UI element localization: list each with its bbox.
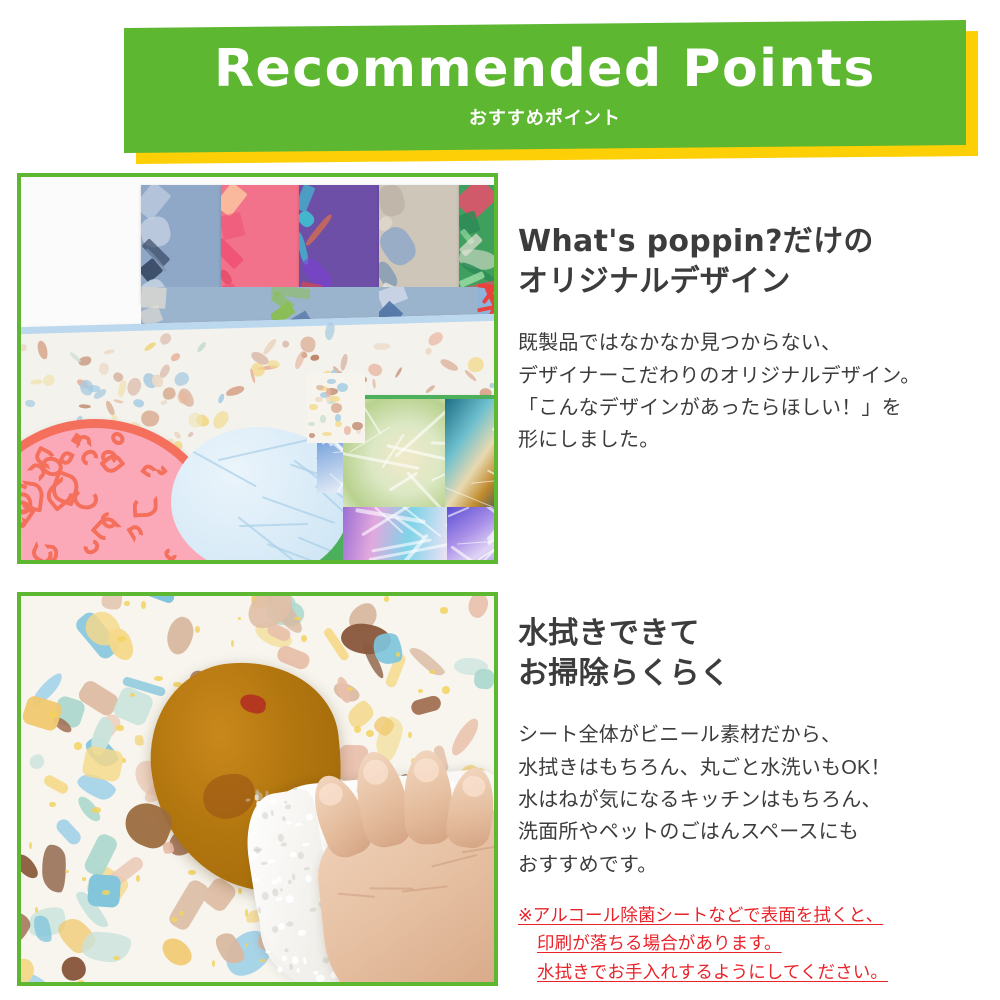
design-sheet-white-terrazzo [307,373,365,443]
terrazzo-speckle [179,911,184,916]
body-line: デザイナーこだわりのオリジナルデザイン。 [518,360,986,392]
terrazzo-speckle [418,689,422,693]
terrazzo-speckle [49,711,57,718]
terrazzo-speckle [408,732,411,738]
section-1-title-line1: What's poppin?だけの [518,222,986,262]
note-line: ※アルコール除菌シートなどで表面を拭くと、 [518,905,883,925]
terrazzo-speckle [124,601,130,607]
body-line: おすすめです。 [518,849,986,881]
page-subtitle: おすすめポイント [214,104,876,130]
terrazzo-speckle [77,980,85,982]
body-line: 既製品ではなかなか見つからない、 [518,327,986,359]
photo-easy-clean-canvas [21,596,494,982]
section-1-text-column: What's poppin?だけの オリジナルデザイン 既製品ではなかなか見つか… [518,173,986,457]
page-title: Recommended Points [214,43,876,95]
terrazzo-speckle [231,640,234,647]
header-banner: Recommended Points おすすめポイント [0,0,1000,172]
terrazzo-speckle [396,652,400,657]
section-2-title-line1: 水拭きできて [518,614,986,654]
photo-original-design-canvas [21,177,494,560]
body-line: 水はねが気になるキッチンはもちろん、 [518,784,986,816]
section-2-title: 水拭きできて お掃除らくらく [518,614,986,693]
design-sheet-marble [445,399,494,511]
section-1-title: What's poppin?だけの オリジナルデザイン [518,222,986,301]
terrazzo-speckle [354,726,361,733]
design-sheet-graffiti [141,185,221,303]
terrazzo-speckle [366,730,374,737]
terrazzo-speckle [49,802,55,808]
section-1-title-line2: オリジナルデザイン [518,262,986,302]
photo-original-design [17,173,498,564]
terrazzo-speckle [171,917,177,921]
note-line: 水拭きでお手入れするようにしてください。 [518,958,888,986]
terrazzo-speckle [301,635,307,642]
body-line: シート全体がビニール素材だから、 [518,719,986,751]
design-sheet-marble [447,507,494,560]
section-easy-clean: 水拭きできて お掃除らくらく シート全体がビニール素材だから、 水拭きはもちろん… [0,592,1000,992]
design-sheet-graffiti [221,185,299,303]
terrazzo-chip [82,931,131,962]
terrazzo-speckle [294,617,302,620]
section-2-title-line2: お掃除らくらく [518,654,986,694]
terrazzo-speckle [154,676,163,681]
photo-easy-clean [17,592,498,986]
design-sheet-marble [343,507,447,560]
terrazzo-speckle [384,596,389,601]
terrazzo-speckle [74,742,83,749]
banner-green-plate: Recommended Points おすすめポイント [124,20,966,153]
terrazzo-speckle [212,960,215,967]
terrazzo-speckle [141,601,146,609]
section-1-body: 既製品ではなかなか見つからない、 デザイナーこだわりのオリジナルデザイン。 「こ… [518,327,986,457]
body-line: 洗面所やペットのごはんスペースにも [518,816,986,848]
section-2-caution-note: ※アルコール除菌シートなどで表面を拭くと、 印刷が落ちる場合があります。 水拭き… [518,901,986,986]
design-sheet-graffiti [379,185,459,303]
section-2-text-column: 水拭きできて お掃除らくらく シート全体がビニール素材だから、 水拭きはもちろん… [518,592,986,986]
note-line: 印刷が落ちる場合があります。 [518,929,782,957]
terrazzo-speckle [82,877,85,881]
section-original-design: What's poppin?だけの オリジナルデザイン 既製品ではなかなか見つか… [0,173,1000,568]
design-sheet-graffiti [299,185,379,303]
section-2-body: シート全体がビニール素材だから、 水拭きはもちろん、丸ごと水洗いもOK！ 水はね… [518,719,986,881]
terrazzo-chip [473,668,494,690]
terrazzo-speckle [440,607,448,613]
terrazzo-speckle [92,807,101,812]
body-line: 「こんなデザインがあったらほしい！」を [518,392,986,424]
terrazzo-speckle [116,725,124,730]
body-line: 水拭きはもちろん、丸ごと水洗いもOK！ [518,752,986,784]
terrazzo-speckle [442,686,450,694]
body-line: 形にしました。 [518,424,986,456]
hand [312,799,494,982]
